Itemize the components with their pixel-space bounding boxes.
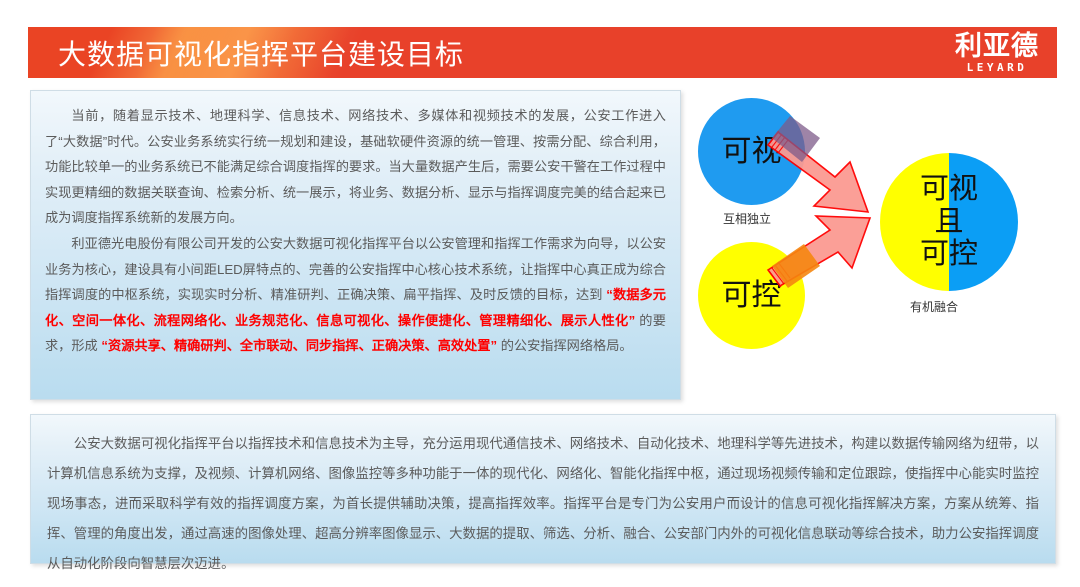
logo-latin-text: LEYARD <box>955 62 1039 73</box>
summary-text-panel: 公安大数据可视化指挥平台以指挥技术和信息技术为主导，充分运用现代通信技术、网络技… <box>30 414 1056 564</box>
title-bar: 大数据可视化指挥平台建设目标 利亚德 LEYARD <box>28 27 1057 78</box>
fusion-diagram: 可视 可控 <box>690 90 1060 400</box>
paragraph-2-highlight-2: “资源共享、精确研判、全市联动、同步指挥、正确决策、高效处置” <box>101 338 497 353</box>
circle-merged-text: 可视 且 可控 <box>920 173 978 270</box>
circle-merged-line-2: 且 <box>920 206 978 238</box>
intro-paragraph-1: 当前，随着显示技术、地理科学、信息技术、网络技术、多媒体和视频技术的发展，公安工… <box>45 103 666 231</box>
circle-controllable: 可控 <box>698 242 805 349</box>
circle-merged-line-3: 可控 <box>920 238 978 270</box>
intro-paragraph-2: 利亚德光电股份有限公司开发的公安大数据可视化指挥平台以公安管理和指挥工作需求为向… <box>45 231 666 359</box>
logo-chinese-text: 利亚德 <box>955 33 1039 60</box>
circle-controllable-label: 可控 <box>722 280 782 312</box>
summary-paragraph: 公安大数据可视化指挥平台以指挥技术和信息技术为主导，充分运用现代通信技术、网络技… <box>47 429 1039 579</box>
circle-merged: 可视 且 可控 <box>880 153 1018 291</box>
leyard-logo: 利亚德 LEYARD <box>955 33 1039 73</box>
circle-merged-line-1: 可视 <box>920 173 978 205</box>
caption-independent: 互相独立 <box>723 210 771 227</box>
paragraph-2-part-c: 的公安指挥网络格局。 <box>497 338 633 353</box>
caption-fusion: 有机融合 <box>910 298 958 315</box>
page-title: 大数据可视化指挥平台建设目标 <box>58 33 464 73</box>
circle-visible-label: 可视 <box>722 136 782 168</box>
paragraph-2-part-a: 利亚德光电股份有限公司开发的公安大数据可视化指挥平台以公安管理和指挥工作需求为向… <box>45 236 666 302</box>
intro-text-panel: 当前，随着显示技术、地理科学、信息技术、网络技术、多媒体和视频技术的发展，公安工… <box>30 90 681 400</box>
circle-visible: 可视 <box>698 98 805 205</box>
